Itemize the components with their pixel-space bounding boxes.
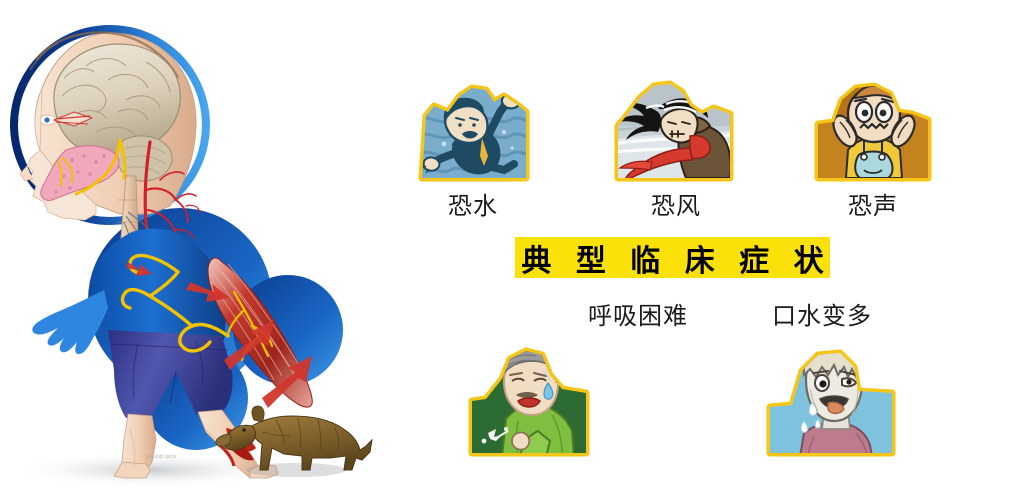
symptom-card-aerophobia[interactable]: [606, 78, 746, 190]
section-banner-text: 典 型 临 床 症 状: [514, 236, 830, 280]
symptom-caption-hydrophobia: 恐水: [390, 192, 556, 220]
rabies-anatomy-illustration: odejoujh genji: [0, 0, 400, 498]
section-banner: 典 型 临 床 症 状: [515, 237, 830, 278]
symptom-caption-phonophobia: 恐声: [798, 192, 948, 220]
symptom-card-dyspnea[interactable]: [462, 345, 602, 465]
symptom-card-hypersalivation[interactable]: [758, 345, 908, 465]
artist-watermark: odejoujh genji: [145, 454, 176, 460]
infographic-canvas: odejoujh genji: [0, 0, 1030, 498]
symptom-caption-aerophobia: 恐风: [596, 192, 756, 220]
symptoms-panel: 恐水: [390, 0, 1030, 498]
symptom-card-hydrophobia[interactable]: [408, 78, 538, 190]
symptom-card-phonophobia[interactable]: [808, 78, 938, 190]
